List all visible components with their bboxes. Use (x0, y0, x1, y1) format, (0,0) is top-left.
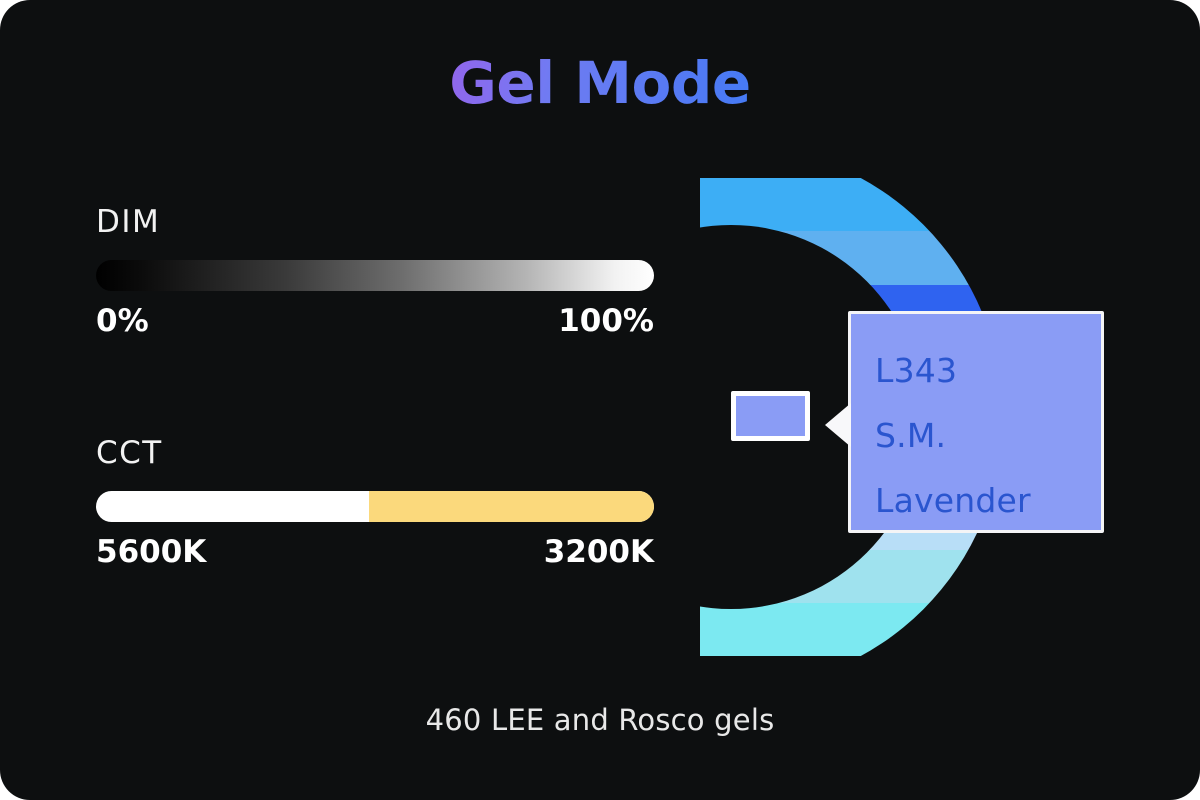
gel-name-line-2: Lavender (875, 468, 1101, 533)
controls-panel: DIM 0% 100% CCT 5600K 3200K (96, 205, 656, 570)
gel-name-line-1: S.M. (875, 403, 1101, 468)
footer-caption: 460 LEE and Rosco gels (0, 703, 1200, 737)
dim-scale-row: 0% 100% (96, 303, 654, 339)
cct-label: CCT (96, 436, 656, 470)
dim-control-group: DIM 0% 100% (96, 205, 656, 339)
dim-min-label: 0% (96, 303, 149, 339)
dim-max-label: 100% (558, 303, 654, 339)
cct-control-group: CCT 5600K 3200K (96, 436, 656, 570)
selected-gel-swatch[interactable] (731, 391, 810, 441)
gel-band[interactable] (700, 603, 1000, 656)
callout-arrow-icon (825, 403, 851, 447)
gel-band[interactable] (700, 231, 1000, 285)
gel-band[interactable] (700, 550, 1000, 603)
cct-max-label: 3200K (544, 534, 654, 570)
cct-min-label: 5600K (96, 534, 206, 570)
dim-label: DIM (96, 205, 656, 239)
gel-band[interactable] (700, 178, 1000, 231)
cct-slider[interactable] (96, 491, 654, 522)
dim-slider[interactable] (96, 260, 654, 291)
cct-scale-row: 5600K 3200K (96, 534, 654, 570)
gel-info-callout: L343 S.M. Lavender (848, 311, 1104, 533)
gel-mode-card: Gel Mode DIM 0% 100% CCT 5600K (0, 0, 1200, 800)
page-title: Gel Mode (0, 54, 1200, 112)
app-root: Gel Mode DIM 0% 100% CCT 5600K (0, 0, 1200, 800)
cct-warm-segment (369, 491, 654, 522)
gel-code: L343 (875, 338, 1101, 403)
